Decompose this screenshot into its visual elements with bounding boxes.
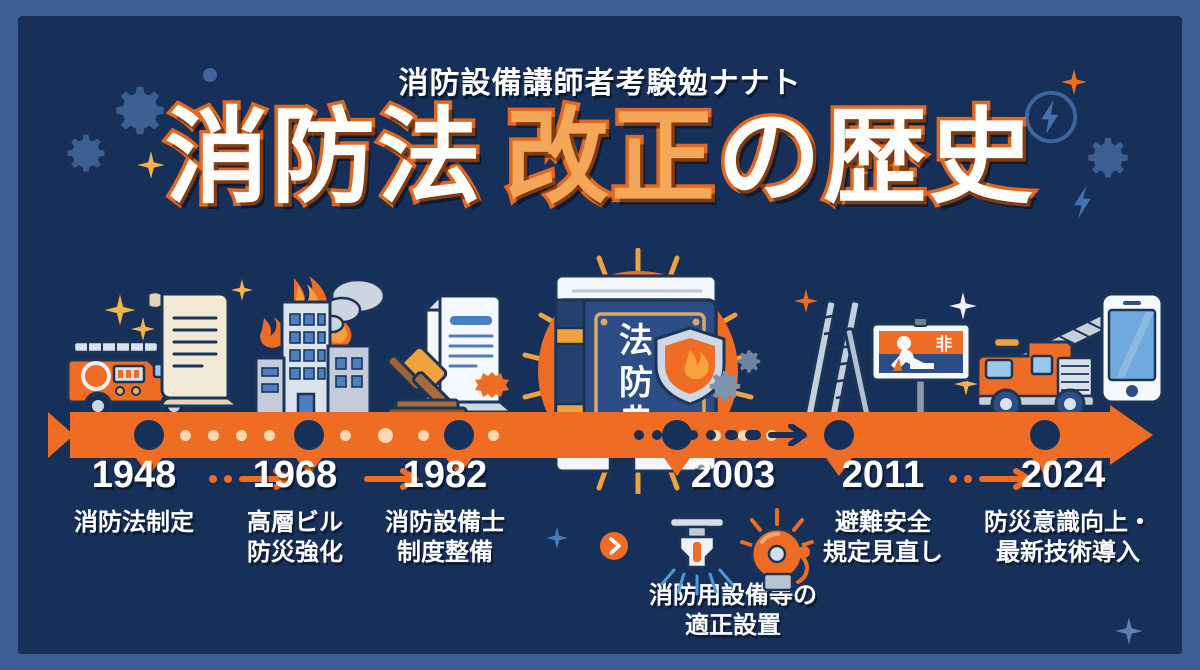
poster-panel: 消防設備講師者考験勉ナナト 消防法改正の歴史 <box>18 16 1182 654</box>
timeline-minor-dot <box>180 430 191 441</box>
burning-building-icon <box>246 266 396 421</box>
title-part-4: 歴史 <box>823 100 1035 216</box>
timeline-minor-dot <box>236 430 247 441</box>
year-label-1948: 1948 <box>74 454 194 497</box>
year-label-1982: 1982 <box>385 454 505 497</box>
evacuation-sign-icon: 非 <box>866 310 976 420</box>
caption-line: 避難安全 <box>793 508 973 538</box>
year-label-1968: 1968 <box>235 454 355 497</box>
poster-title: 消防法改正の歴史 <box>18 106 1182 210</box>
caption-1948: 消防法制定 <box>34 508 234 538</box>
timeline-node-1948[interactable] <box>134 420 164 450</box>
sprinkler-head-icon <box>656 512 738 596</box>
scroll-document-icon <box>140 284 240 416</box>
poster-subtitle: 消防設備講師者考験勉ナナト <box>18 58 1182 102</box>
caption-line: 消防設備士 <box>355 508 535 538</box>
year-label-2011: 2011 <box>823 454 943 497</box>
caption-1982: 消防設備士 制度整備 <box>355 508 535 568</box>
sparkle-icon <box>1114 616 1144 646</box>
timeline-node-1968[interactable] <box>294 420 324 450</box>
svg-text:防: 防 <box>619 364 653 402</box>
timeline-node-2024[interactable] <box>1030 420 1060 450</box>
timeline-minor-dot <box>208 430 219 441</box>
caption-line: 防災意識向上・ <box>963 508 1173 538</box>
caption-line: 消防法制定 <box>34 508 234 538</box>
caption-2024: 防災意識向上・ 最新技術導入 <box>963 508 1173 568</box>
band-body <box>70 412 1110 458</box>
svg-text:法: 法 <box>619 322 653 360</box>
title-part-2: 改正 <box>505 100 717 216</box>
timeline-progress-arrow <box>633 424 823 446</box>
timeline-minor-dot <box>418 430 429 441</box>
chevron-right-badge-icon[interactable] <box>598 530 630 562</box>
timeline-minor-dot <box>378 428 393 443</box>
infographic-poster: 消防設備講師者考験勉ナナト 消防法改正の歴史 <box>0 0 1200 670</box>
timeline-minor-dot <box>340 430 351 441</box>
timeline-node-2011[interactable] <box>824 420 854 450</box>
timeline-minor-dot <box>264 430 275 441</box>
title-part-1: 消防法 <box>165 100 483 216</box>
caption-line: 適正設置 <box>593 611 873 641</box>
timeline-node-1982[interactable] <box>444 420 474 450</box>
gavel-icon <box>380 338 492 420</box>
sparkle-icon <box>545 526 569 550</box>
caption-line: 制度整備 <box>355 538 535 568</box>
caption-line: 規定見直し <box>793 538 973 568</box>
year-label-2024: 2024 <box>1003 454 1123 497</box>
caption-2011: 避難安全 規定見直し <box>793 508 973 568</box>
svg-text:非: 非 <box>936 334 953 354</box>
smartphone-icon <box>1098 290 1166 406</box>
gear-icon <box>732 348 766 382</box>
year-label-2003: 2003 <box>673 454 793 497</box>
caption-line: 最新技術導入 <box>963 538 1173 568</box>
timeline-band <box>48 412 1153 458</box>
title-part-3: の <box>717 100 823 216</box>
timeline-minor-dot <box>488 430 499 441</box>
